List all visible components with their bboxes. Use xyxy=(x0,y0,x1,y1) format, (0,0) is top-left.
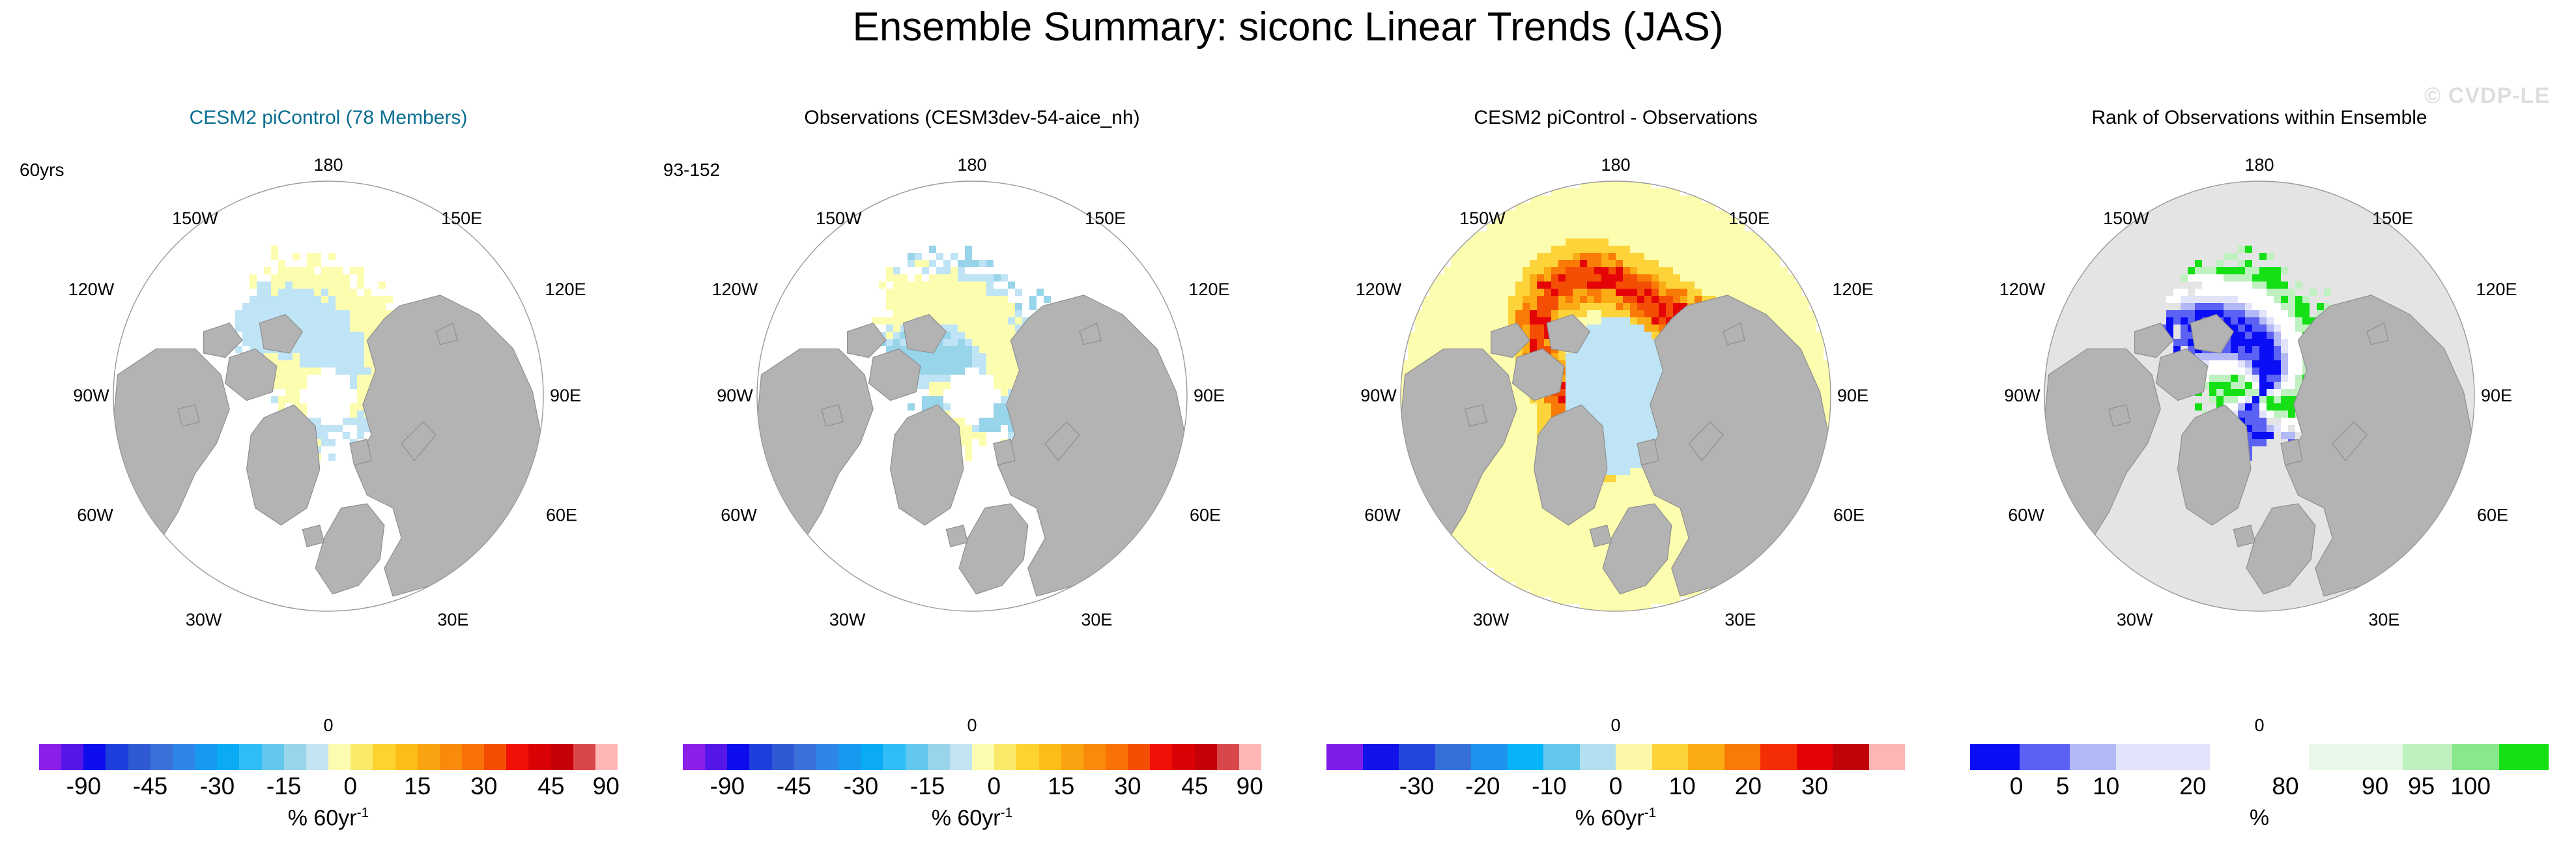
map-model[interactable]: 180150W150E120W120E90W90E60W60E30W30E xyxy=(7,136,650,722)
colorbar-cell xyxy=(506,744,528,770)
colorbar-cell xyxy=(1128,744,1150,770)
colorbar-cell xyxy=(484,744,506,770)
panel-model: CESM2 piControl (78 Members)60yrs180150W… xyxy=(7,98,650,847)
colorbar-cell xyxy=(150,744,173,770)
svg-text:180: 180 xyxy=(2244,155,2274,175)
colorbar-tick: 0 xyxy=(343,773,357,800)
colorbar-tick: 30 xyxy=(470,773,497,800)
svg-text:90W: 90W xyxy=(2004,386,2040,405)
svg-text:120W: 120W xyxy=(712,280,758,299)
panel-obs: Observations (CESM3dev-54-aice_nh)93-152… xyxy=(650,98,1294,847)
colorbar-cell xyxy=(1150,744,1172,770)
page-title: Ensemble Summary: siconc Linear Trends (… xyxy=(0,4,2576,50)
colorbar-cell xyxy=(1760,744,1797,770)
colorbar-cell xyxy=(994,744,1016,770)
colorbar-tick: 100 xyxy=(2450,773,2491,800)
svg-text:30W: 30W xyxy=(1473,610,1510,629)
colorbar-zero-label-obs: 0 xyxy=(650,715,1294,736)
colorbar-cell xyxy=(173,744,195,770)
svg-text:90W: 90W xyxy=(73,386,109,405)
svg-text:120E: 120E xyxy=(1832,280,1873,299)
colorbar-cell xyxy=(928,744,950,770)
svg-text:150E: 150E xyxy=(2372,209,2413,228)
colorbar-tick: -90 xyxy=(710,773,745,800)
colorbar-unit-obs: % 60yr-1 xyxy=(650,805,1294,831)
colorbar-cell xyxy=(1724,744,1761,770)
colorbar-cell xyxy=(816,744,838,770)
colorbar-tick: -45 xyxy=(133,773,167,800)
colorbar-unit-model: % 60yr-1 xyxy=(7,805,650,831)
colorbar-cell xyxy=(1435,744,1472,770)
colorbar-cell xyxy=(373,744,395,770)
colorbar-cell xyxy=(1688,744,1724,770)
panel-title-model: CESM2 piControl (78 Members) xyxy=(7,107,650,129)
colorbar-cell xyxy=(1508,744,1544,770)
colorbar-rank[interactable] xyxy=(1970,744,2549,770)
colorbar-cell xyxy=(906,744,928,770)
colorbar-cell xyxy=(2020,744,2069,770)
colorbar-tick: -90 xyxy=(66,773,101,800)
colorbar-ticks-model: -90-45-30-15015304590 xyxy=(39,773,618,801)
svg-text:60W: 60W xyxy=(721,505,757,525)
panel-title-obs: Observations (CESM3dev-54-aice_nh) xyxy=(650,107,1294,129)
colorbar-unit-rank: % xyxy=(1938,805,2576,831)
svg-text:120E: 120E xyxy=(545,280,586,299)
colorbar-tick: 30 xyxy=(1801,773,1828,800)
colorbar-tick: 15 xyxy=(1048,773,1074,800)
colorbar-cell xyxy=(217,744,239,770)
colorbar-tick: -30 xyxy=(200,773,235,800)
colorbar-tick: 0 xyxy=(987,773,1001,800)
colorbar-tick: 80 xyxy=(2272,773,2298,800)
colorbar-cell xyxy=(794,744,816,770)
map-obs[interactable]: 180150W150E120W120E90W90E60W60E30W30E xyxy=(650,136,1294,722)
colorbar-cell xyxy=(239,744,261,770)
svg-text:120W: 120W xyxy=(68,280,115,299)
colorbar-cell xyxy=(1061,744,1083,770)
colorbar-cell xyxy=(128,744,150,770)
colorbar-cell xyxy=(1833,744,1869,770)
colorbar-tick: 0 xyxy=(1609,773,1623,800)
colorbar-cell xyxy=(683,744,705,770)
svg-text:180: 180 xyxy=(313,155,343,175)
colorbar-cell xyxy=(2210,744,2310,770)
colorbar-tick: 90 xyxy=(1237,773,1263,800)
colorbar-cell xyxy=(528,744,551,770)
colorbar-zero-label-rank: 0 xyxy=(1938,715,2576,736)
svg-text:60E: 60E xyxy=(1190,505,1221,525)
svg-text:60E: 60E xyxy=(2477,505,2508,525)
colorbar-tick: 10 xyxy=(1669,773,1696,800)
colorbar-cell xyxy=(727,744,749,770)
colorbar-tick: 0 xyxy=(2010,773,2024,800)
colorbar-tick: -30 xyxy=(844,773,878,800)
svg-text:150E: 150E xyxy=(1728,209,1769,228)
colorbar-cell xyxy=(1039,744,1061,770)
colorbar-cell xyxy=(195,744,217,770)
colorbar-cell xyxy=(1239,744,1261,770)
colorbar-cell xyxy=(2452,744,2499,770)
svg-text:30E: 30E xyxy=(1081,610,1112,629)
colorbar-tick: 10 xyxy=(2093,773,2119,800)
colorbar-cell xyxy=(1543,744,1580,770)
colorbar-cell xyxy=(1616,744,1652,770)
colorbar-ticks-obs: -90-45-30-15015304590 xyxy=(683,773,1261,801)
colorbar-cell xyxy=(2403,744,2452,770)
panel-title-diff: CESM2 piControl - Observations xyxy=(1294,107,1938,129)
colorbar-cell xyxy=(772,744,794,770)
colorbar-cell xyxy=(1217,744,1239,770)
colorbar-cell xyxy=(83,744,106,770)
svg-text:150E: 150E xyxy=(1085,209,1126,228)
colorbar-cell xyxy=(1399,744,1435,770)
colorbar-tick: -20 xyxy=(1465,773,1500,800)
svg-text:60W: 60W xyxy=(77,505,113,525)
svg-text:150W: 150W xyxy=(1459,209,1506,228)
svg-text:180: 180 xyxy=(957,155,986,175)
colorbar-cell xyxy=(262,744,284,770)
svg-text:90E: 90E xyxy=(2481,386,2512,405)
colorbar-tick: 90 xyxy=(593,773,620,800)
colorbar-cell xyxy=(1195,744,1217,770)
colorbar-cell xyxy=(573,744,595,770)
svg-text:30W: 30W xyxy=(186,610,222,629)
colorbar-cell xyxy=(395,744,418,770)
colorbar-cell xyxy=(462,744,484,770)
svg-text:30E: 30E xyxy=(437,610,468,629)
svg-text:120W: 120W xyxy=(1999,280,2046,299)
svg-text:60E: 60E xyxy=(1833,505,1865,525)
colorbar-tick: 20 xyxy=(1735,773,1762,800)
svg-text:90E: 90E xyxy=(550,386,581,405)
svg-text:90E: 90E xyxy=(1194,386,1225,405)
colorbar-cell xyxy=(440,744,462,770)
colorbar-cell xyxy=(972,744,994,770)
colorbar-model[interactable] xyxy=(39,744,618,770)
colorbar-cell xyxy=(1652,744,1689,770)
svg-text:30W: 30W xyxy=(2117,610,2153,629)
svg-text:180: 180 xyxy=(1601,155,1630,175)
colorbar-cell xyxy=(2499,744,2549,770)
svg-text:120W: 120W xyxy=(1356,280,1402,299)
svg-text:60E: 60E xyxy=(546,505,577,525)
colorbar-cell xyxy=(1326,744,1363,770)
svg-text:30E: 30E xyxy=(1724,610,1756,629)
colorbar-cell xyxy=(328,744,351,770)
colorbar-cell xyxy=(61,744,83,770)
colorbar-tick: 45 xyxy=(537,773,564,800)
colorbar-cell xyxy=(1471,744,1508,770)
colorbar-zero-label-diff: 0 xyxy=(1294,715,1938,736)
svg-text:150W: 150W xyxy=(172,209,218,228)
colorbar-cell xyxy=(39,744,61,770)
colorbar-obs[interactable] xyxy=(683,744,1261,770)
colorbar-tick: -15 xyxy=(910,773,945,800)
colorbar-cell xyxy=(1970,744,2020,770)
svg-text:120E: 120E xyxy=(1188,280,1229,299)
colorbar-tick: 20 xyxy=(2179,773,2206,800)
svg-text:90E: 90E xyxy=(1837,386,1868,405)
colorbar-cell xyxy=(1869,744,1906,770)
colorbar-tick: -45 xyxy=(777,773,811,800)
colorbar-cell xyxy=(705,744,727,770)
colorbar-cell xyxy=(1363,744,1399,770)
colorbar-cell xyxy=(595,744,618,770)
colorbar-cell xyxy=(2116,744,2209,770)
map-diff[interactable]: 180150W150E120W120E90W90E60W60E30W30E xyxy=(1294,136,1938,722)
colorbar-cell xyxy=(2309,744,2402,770)
colorbar-tick: -10 xyxy=(1532,773,1566,800)
colorbar-cell xyxy=(749,744,771,770)
colorbar-cell xyxy=(351,744,373,770)
colorbar-tick: 90 xyxy=(2362,773,2388,800)
colorbar-cell xyxy=(418,744,440,770)
colorbar-cell xyxy=(106,744,128,770)
svg-text:90W: 90W xyxy=(717,386,753,405)
colorbar-cell xyxy=(284,744,306,770)
svg-text:30W: 30W xyxy=(829,610,866,629)
panel-title-rank: Rank of Observations within Ensemble xyxy=(1938,107,2576,129)
svg-text:150W: 150W xyxy=(2103,209,2149,228)
colorbar-ticks-rank: 051020809095100 xyxy=(1970,773,2549,801)
colorbar-tick: 95 xyxy=(2408,773,2435,800)
svg-text:60W: 60W xyxy=(1364,505,1401,525)
colorbar-cell xyxy=(950,744,972,770)
colorbar-ticks-diff: -30-20-100102030 xyxy=(1326,773,1905,801)
svg-text:30E: 30E xyxy=(2368,610,2399,629)
colorbar-tick: -30 xyxy=(1399,773,1434,800)
colorbar-cell xyxy=(1580,744,1616,770)
colorbar-cell xyxy=(1083,744,1106,770)
colorbar-tick: 15 xyxy=(404,773,431,800)
colorbar-cell xyxy=(1797,744,1833,770)
colorbar-cell xyxy=(838,744,861,770)
svg-text:60W: 60W xyxy=(2008,505,2044,525)
colorbar-diff[interactable] xyxy=(1326,744,1905,770)
colorbar-cell xyxy=(1016,744,1038,770)
colorbar-cell xyxy=(883,744,905,770)
colorbar-unit-diff: % 60yr-1 xyxy=(1294,805,1938,831)
colorbar-cell xyxy=(2070,744,2117,770)
panel-diff: CESM2 piControl - Observations180150W150… xyxy=(1294,98,1938,847)
svg-text:150E: 150E xyxy=(441,209,482,228)
map-rank[interactable]: 180150W150E120W120E90W90E60W60E30W30E xyxy=(1938,136,2576,722)
svg-text:150W: 150W xyxy=(816,209,862,228)
colorbar-tick: -15 xyxy=(266,773,301,800)
panel-rank: Rank of Observations within Ensemble1801… xyxy=(1938,98,2576,847)
colorbar-cell xyxy=(1106,744,1128,770)
colorbar-tick: 5 xyxy=(2056,773,2070,800)
svg-text:120E: 120E xyxy=(2476,280,2517,299)
colorbar-cell xyxy=(551,744,573,770)
colorbar-cell xyxy=(1172,744,1194,770)
colorbar-zero-label-model: 0 xyxy=(7,715,650,736)
colorbar-tick: 45 xyxy=(1181,773,1208,800)
colorbar-cell xyxy=(306,744,328,770)
colorbar-tick: 30 xyxy=(1114,773,1141,800)
colorbar-cell xyxy=(861,744,883,770)
svg-text:90W: 90W xyxy=(1360,386,1397,405)
